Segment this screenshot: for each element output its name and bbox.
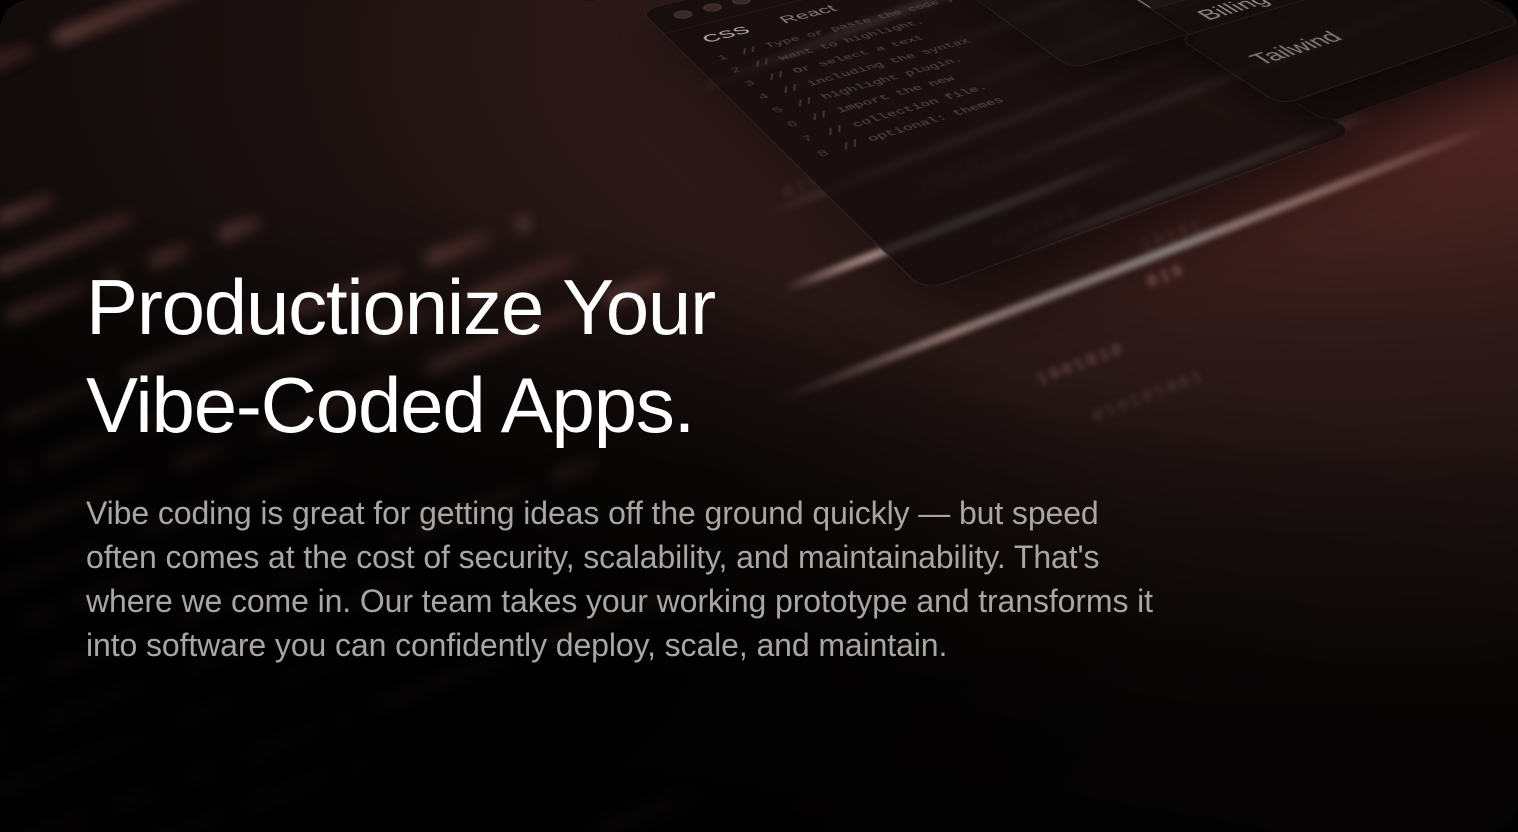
minimize-dot-icon[interactable] (700, 2, 724, 13)
close-dot-icon[interactable] (671, 9, 695, 20)
hero-copy: Productionize Your Vibe-Coded Apps. Vibe… (86, 258, 1166, 667)
page-title: Productionize Your Vibe-Coded Apps. (86, 258, 1166, 455)
hero-description: Vibe coding is great for getting ideas o… (86, 491, 1156, 668)
maximize-dot-icon[interactable] (729, 0, 753, 6)
hero-banner: 0101010010101010101010101001010010101001… (0, 0, 1518, 832)
